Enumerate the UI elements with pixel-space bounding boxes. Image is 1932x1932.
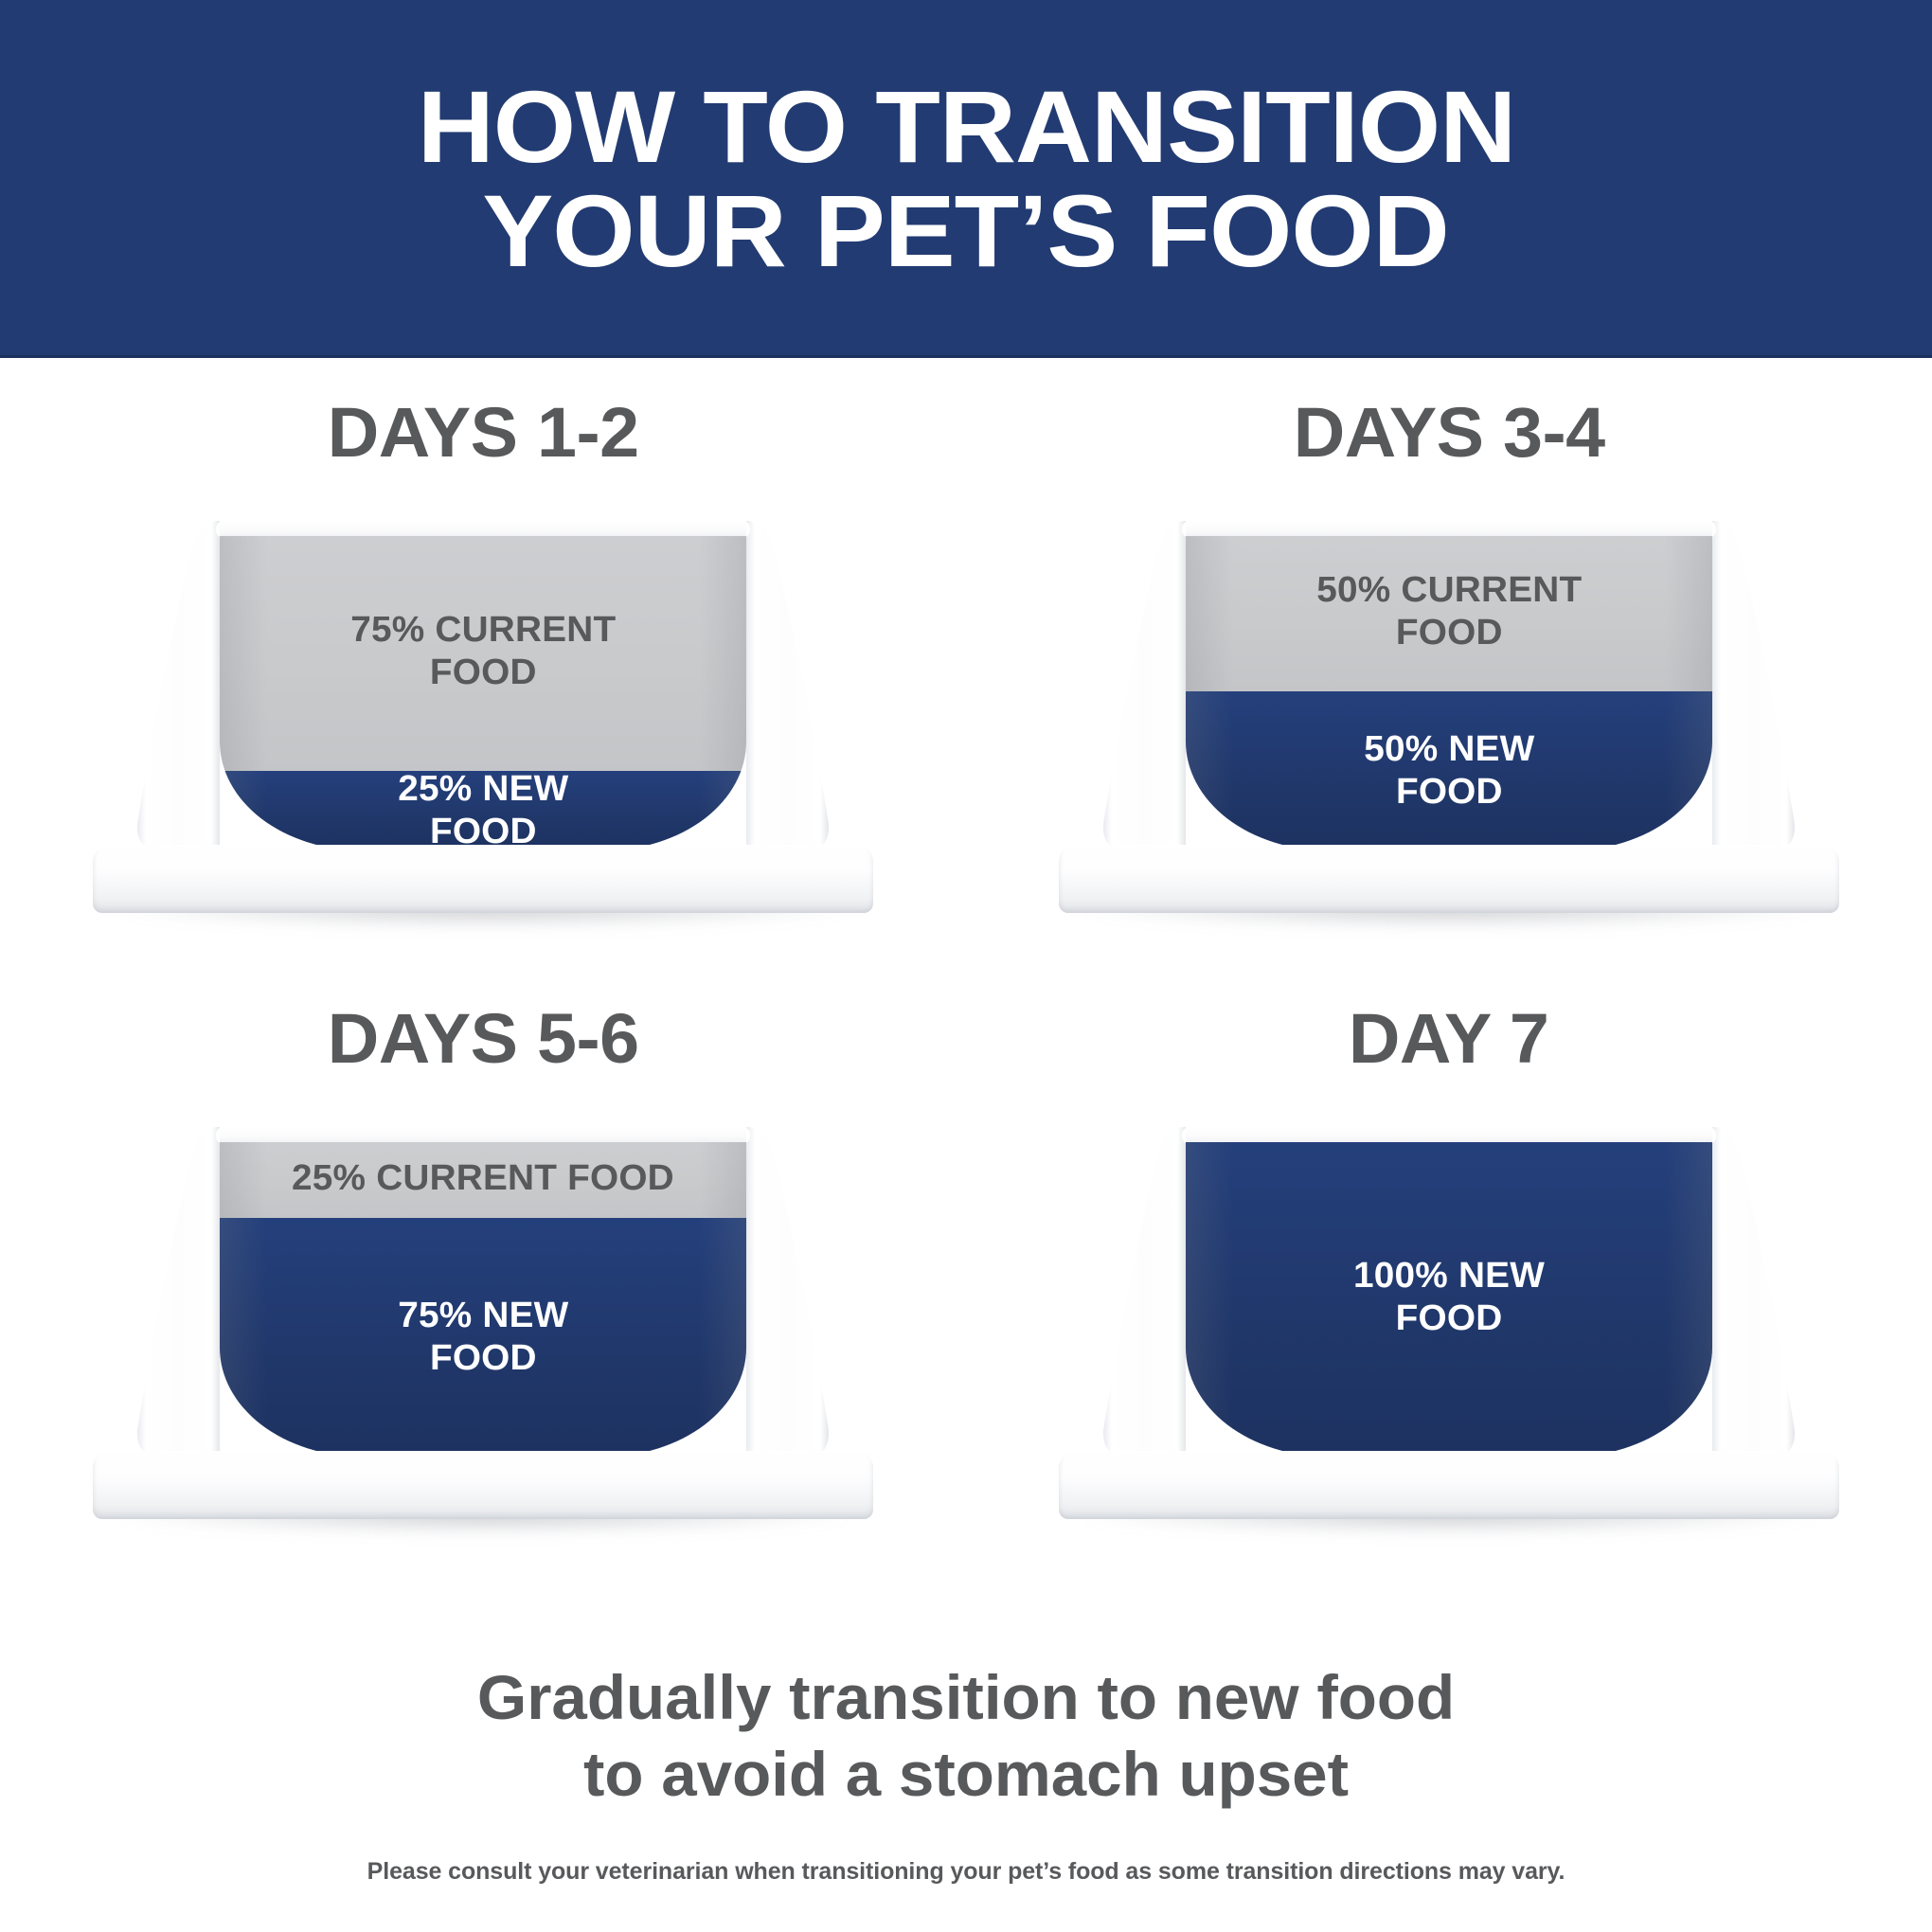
step-title-days-5-6: DAYS 5-6 xyxy=(328,1004,639,1074)
new-food-fill: 100% NEW FOOD xyxy=(1186,1138,1712,1457)
step-title-day-7: DAY 7 xyxy=(1349,1004,1548,1074)
bowl-base xyxy=(93,1451,873,1519)
bowl-cavity: 75% CURRENT FOOD 25% NEW FOOD xyxy=(220,532,746,850)
current-food-label: 50% CURRENT FOOD xyxy=(1301,569,1598,654)
bowl-base xyxy=(1059,1451,1839,1519)
bowl-cavity: 25% CURRENT FOOD 75% NEW FOOD xyxy=(220,1138,746,1457)
current-food-label: 25% CURRENT FOOD xyxy=(277,1157,689,1200)
new-food-fill: 50% NEW FOOD xyxy=(1186,691,1712,850)
food-bowl-days-1-2: 75% CURRENT FOOD 25% NEW FOOD xyxy=(76,504,890,921)
bowl-base xyxy=(93,845,873,913)
bowl-base xyxy=(1059,845,1839,913)
current-food-label: 75% CURRENT FOOD xyxy=(335,609,632,694)
tagline: Gradually transition to new food to avoi… xyxy=(0,1659,1932,1812)
bowl-rim xyxy=(220,1127,746,1142)
food-bowl-days-5-6: 25% CURRENT FOOD 75% NEW FOOD xyxy=(76,1110,890,1527)
bowl-rim xyxy=(1186,521,1712,536)
step-card-day-7: DAY 7 xyxy=(966,1004,1932,1610)
step-card-days-1-2: DAYS 1-2 xyxy=(0,398,966,1004)
food-bowl-day-7: 100% NEW FOOD xyxy=(1042,1110,1856,1527)
current-food-fill: 75% CURRENT FOOD xyxy=(220,532,746,771)
step-card-days-3-4: DAYS 3-4 xyxy=(966,398,1932,1004)
infographic-page: HOW TO TRANSITION YOUR PET’S FOOD DAYS 1… xyxy=(0,0,1932,1932)
food-bowl-days-3-4: 50% CURRENT FOOD 50% NEW FOOD xyxy=(1042,504,1856,921)
transition-steps-grid: DAYS 1-2 xyxy=(0,398,1932,1610)
bowl-cavity: 50% CURRENT FOOD 50% NEW FOOD xyxy=(1186,532,1712,850)
new-food-label: 50% NEW FOOD xyxy=(1349,728,1550,814)
page-title-line-2: YOUR PET’S FOOD xyxy=(483,179,1449,283)
bowl-rim xyxy=(1186,1127,1712,1142)
new-food-label: 100% NEW FOOD xyxy=(1338,1255,1561,1340)
current-food-fill: 25% CURRENT FOOD xyxy=(220,1138,746,1218)
step-card-days-5-6: DAYS 5-6 xyxy=(0,1004,966,1610)
step-title-days-3-4: DAYS 3-4 xyxy=(1294,398,1605,468)
disclaimer-text: Please consult your veterinarian when tr… xyxy=(0,1858,1932,1886)
new-food-label: 75% NEW FOOD xyxy=(383,1295,584,1380)
page-title-line-1: HOW TO TRANSITION xyxy=(417,75,1515,179)
new-food-label: 25% NEW FOOD xyxy=(383,768,584,850)
new-food-fill: 25% NEW FOOD xyxy=(220,771,746,850)
new-food-fill: 75% NEW FOOD xyxy=(220,1218,746,1457)
header-banner: HOW TO TRANSITION YOUR PET’S FOOD xyxy=(0,0,1932,358)
step-title-days-1-2: DAYS 1-2 xyxy=(328,398,639,468)
bowl-cavity: 100% NEW FOOD xyxy=(1186,1138,1712,1457)
current-food-fill: 50% CURRENT FOOD xyxy=(1186,532,1712,691)
bowl-rim xyxy=(220,521,746,536)
